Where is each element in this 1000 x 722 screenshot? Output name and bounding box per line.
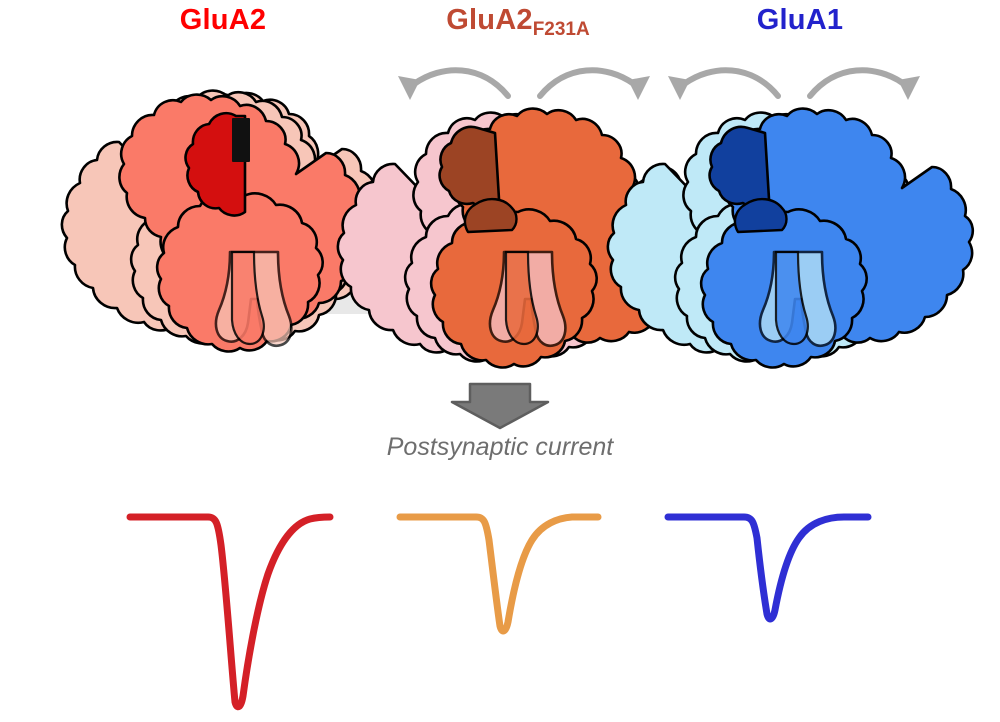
epsc-trace-gluA2-F231A [400, 517, 598, 631]
gluA2-interface-black-bar [232, 118, 250, 162]
epsc-trace-gluA2 [130, 517, 330, 707]
rotation-arrows-gluA2-F231A [414, 70, 634, 96]
receptor-gluA1 [608, 70, 973, 367]
rotation-arrowhead-right-gluA1 [898, 76, 920, 100]
rotation-arrowhead-left-gluA1 [668, 76, 690, 100]
rotation-arrow-right-gluA1 [810, 70, 904, 96]
rotation-arrow-left-gluA1 [684, 70, 778, 96]
epsc-trace-gluA1 [668, 517, 868, 619]
figure-canvas [0, 0, 1000, 722]
rotation-arrows-gluA1 [684, 70, 904, 96]
rotation-arrowhead-left-gluA2-F231A [398, 76, 420, 100]
rotation-arrow-right-gluA2-F231A [540, 70, 634, 96]
epsc-traces [130, 517, 868, 707]
rotation-arrow-left-gluA2-F231A [414, 70, 508, 96]
flow-arrow-down [452, 384, 548, 428]
rotation-arrowhead-right-gluA2-F231A [628, 76, 650, 100]
